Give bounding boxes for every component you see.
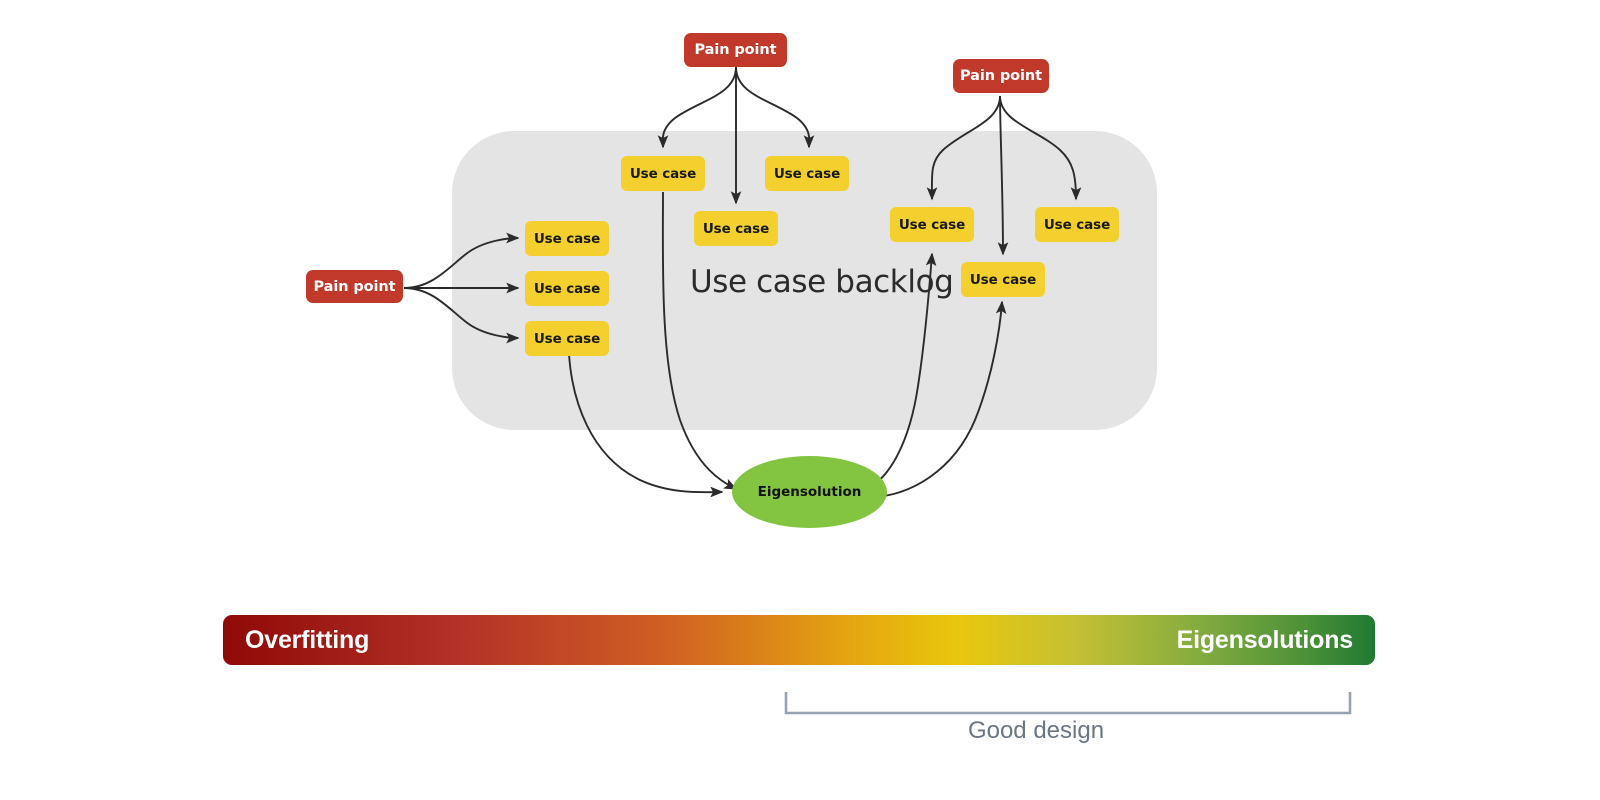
edge-painright-to-use3 bbox=[1000, 96, 1076, 199]
eigensolution-node[interactable]: Eigensolution bbox=[732, 456, 887, 528]
use-case-backlog-title: Use case backlog bbox=[690, 264, 953, 300]
edge-painleft-to-use1 bbox=[404, 238, 518, 288]
good-design-bracket bbox=[786, 692, 1350, 714]
pain-point-left[interactable]: Pain point bbox=[306, 270, 403, 303]
use-case-label: Use case bbox=[970, 272, 1036, 288]
use-case-label: Use case bbox=[534, 331, 600, 347]
use-case-label: Use case bbox=[534, 281, 600, 297]
connector-layer bbox=[0, 0, 1600, 800]
edge-painright-to-use2 bbox=[1000, 96, 1003, 254]
edge-paintop-to-useleft bbox=[663, 67, 736, 147]
edge-painright-to-use1 bbox=[932, 96, 1000, 199]
use-case-right-3[interactable]: Use case bbox=[961, 262, 1045, 297]
use-case-label: Use case bbox=[1044, 217, 1110, 233]
use-case-label: Use case bbox=[774, 166, 840, 182]
use-case-left-3[interactable]: Use case bbox=[525, 321, 609, 356]
edge-painleft-to-use3 bbox=[404, 288, 518, 338]
use-case-top-left[interactable]: Use case bbox=[621, 156, 705, 191]
spectrum-right-label: Eigensolutions bbox=[1177, 626, 1353, 655]
pain-point-top-center[interactable]: Pain point bbox=[684, 33, 787, 67]
use-case-left-2[interactable]: Use case bbox=[525, 271, 609, 306]
use-case-label: Use case bbox=[899, 217, 965, 233]
eigensolution-label: Eigensolution bbox=[758, 484, 862, 500]
pain-point-label: Pain point bbox=[960, 68, 1042, 84]
pain-point-top-right[interactable]: Pain point bbox=[953, 59, 1049, 93]
diagram-canvas: Pain point Pain point Pain point Use cas… bbox=[0, 0, 1600, 800]
use-case-label: Use case bbox=[630, 166, 696, 182]
spectrum-left-label: Overfitting bbox=[245, 626, 369, 655]
use-case-label: Use case bbox=[534, 231, 600, 247]
edge-paintop-to-useright bbox=[736, 67, 809, 147]
pain-point-label: Pain point bbox=[314, 279, 396, 295]
use-case-top-center[interactable]: Use case bbox=[694, 211, 778, 246]
use-case-label: Use case bbox=[703, 221, 769, 237]
use-case-top-right[interactable]: Use case bbox=[765, 156, 849, 191]
overfitting-eigensolutions-spectrum: Overfitting Eigensolutions bbox=[223, 615, 1375, 665]
use-case-right-1[interactable]: Use case bbox=[890, 207, 974, 242]
good-design-label: Good design bbox=[968, 717, 1104, 745]
pain-point-label: Pain point bbox=[695, 42, 777, 58]
use-case-left-1[interactable]: Use case bbox=[525, 221, 609, 256]
use-case-right-2[interactable]: Use case bbox=[1035, 207, 1119, 242]
edge-useleft3-to-eigensolution bbox=[569, 354, 722, 492]
